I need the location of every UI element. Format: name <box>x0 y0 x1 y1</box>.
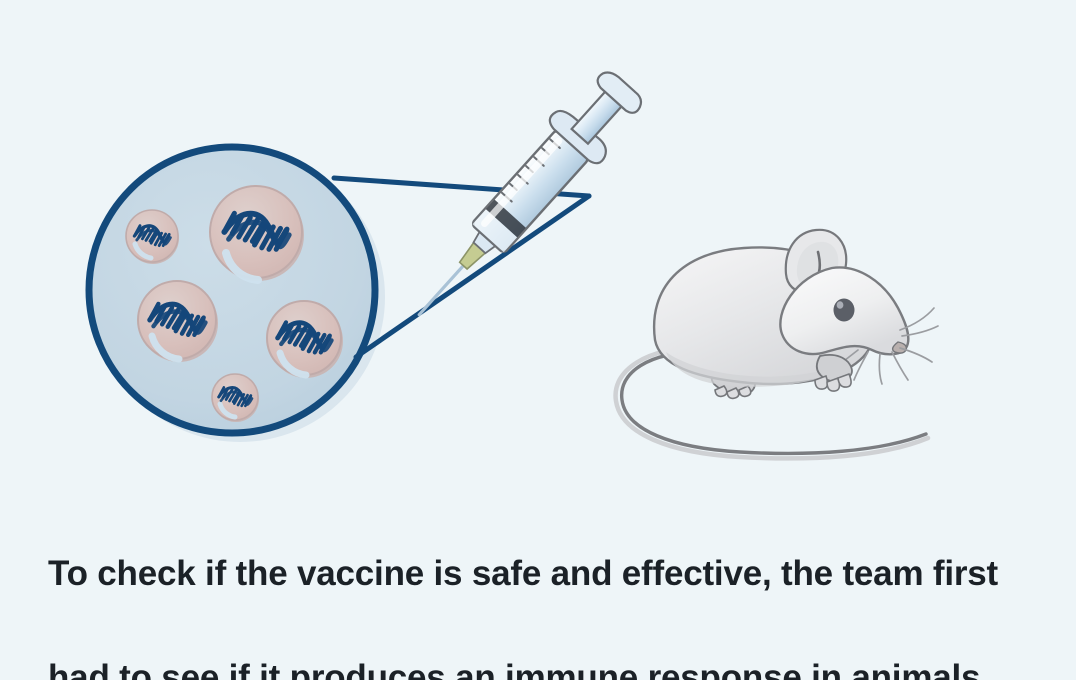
caption-text: To check if the vaccine is safe and effe… <box>48 496 1008 680</box>
caption-line-1: To check if the vaccine is safe and effe… <box>48 548 1008 600</box>
mouse-eye-highlight <box>837 301 844 309</box>
mouse-eye <box>834 299 855 322</box>
illustration-slide: To check if the vaccine is safe and effe… <box>0 0 1076 680</box>
caption-line-2: had to see if it produces an immune resp… <box>48 652 1008 680</box>
